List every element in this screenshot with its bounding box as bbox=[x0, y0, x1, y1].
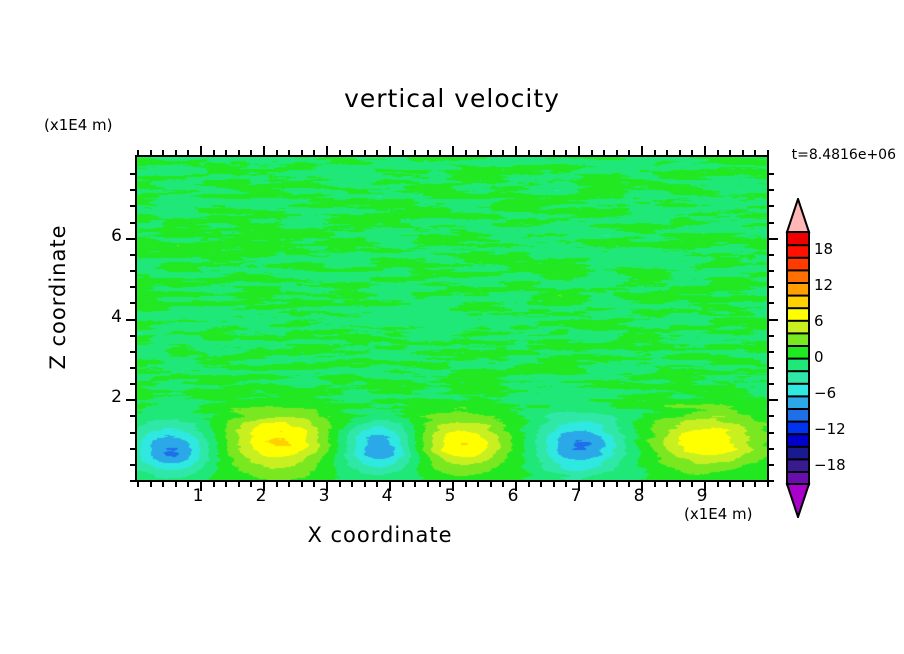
colorbar-tick-label: −6 bbox=[814, 384, 836, 402]
x-tick-label: 9 bbox=[682, 486, 722, 506]
axis-tick bbox=[288, 482, 290, 487]
axis-tick bbox=[654, 150, 656, 155]
axis-tick bbox=[754, 482, 756, 487]
axis-tick bbox=[130, 286, 135, 288]
axis-tick bbox=[769, 432, 774, 434]
axis-tick bbox=[767, 482, 769, 487]
axis-tick bbox=[364, 150, 366, 155]
axis-tick bbox=[769, 302, 774, 304]
colorbar-labels: 181260−6−12−18 bbox=[812, 198, 872, 518]
axis-tick bbox=[729, 150, 731, 155]
axis-tick bbox=[130, 464, 135, 466]
axis-tick bbox=[130, 367, 135, 369]
y-tick-label: 6 bbox=[82, 226, 122, 246]
axis-tick bbox=[130, 335, 135, 337]
axis-tick bbox=[666, 482, 668, 487]
time-annotation: t=8.4816e+06 bbox=[792, 147, 896, 163]
y-tick-label: 4 bbox=[82, 307, 122, 327]
axis-tick bbox=[225, 482, 227, 487]
axis-tick bbox=[130, 222, 135, 224]
axis-tick bbox=[200, 146, 202, 155]
figure-canvas: vertical velocity (x1E4 m) t=8.4816e+06 … bbox=[0, 0, 904, 654]
axis-tick bbox=[130, 205, 135, 207]
axis-tick bbox=[769, 399, 778, 401]
x-tick-label: 3 bbox=[304, 486, 344, 506]
axis-tick bbox=[364, 482, 366, 487]
axis-tick bbox=[616, 150, 618, 155]
axis-tick bbox=[742, 150, 744, 155]
plot-title-text: vertical velocity bbox=[344, 84, 560, 113]
x-tick-label: 6 bbox=[493, 486, 533, 506]
axis-tick bbox=[130, 270, 135, 272]
axis-tick bbox=[603, 482, 605, 487]
axis-tick bbox=[126, 238, 135, 240]
axis-tick bbox=[130, 351, 135, 353]
axis-tick bbox=[402, 150, 404, 155]
axis-tick bbox=[150, 482, 152, 487]
axis-tick bbox=[704, 146, 706, 155]
colorbar-tick-label: 0 bbox=[814, 348, 824, 366]
axis-tick bbox=[427, 150, 429, 155]
axis-tick bbox=[565, 150, 567, 155]
axis-tick bbox=[351, 482, 353, 487]
axis-tick bbox=[126, 319, 135, 321]
axis-tick bbox=[213, 150, 215, 155]
axis-tick bbox=[769, 464, 774, 466]
axis-tick bbox=[769, 270, 774, 272]
contour-plot-area bbox=[135, 155, 769, 482]
axis-tick bbox=[175, 482, 177, 487]
axis-tick bbox=[729, 482, 731, 487]
axis-tick bbox=[351, 150, 353, 155]
axis-tick bbox=[130, 383, 135, 385]
x-tick-label: 1 bbox=[178, 486, 218, 506]
axis-tick bbox=[276, 150, 278, 155]
axis-tick bbox=[250, 150, 252, 155]
axis-tick bbox=[769, 205, 774, 207]
axis-tick bbox=[465, 150, 467, 155]
axis-tick bbox=[427, 482, 429, 487]
axis-tick bbox=[414, 482, 416, 487]
axis-tick bbox=[603, 150, 605, 155]
axis-tick bbox=[301, 482, 303, 487]
axis-tick bbox=[130, 480, 135, 482]
axis-tick bbox=[130, 432, 135, 434]
x-tick-label: 7 bbox=[556, 486, 596, 506]
axis-tick bbox=[591, 150, 593, 155]
x-tick-label: 5 bbox=[430, 486, 470, 506]
axis-tick bbox=[717, 150, 719, 155]
axis-tick bbox=[767, 150, 769, 155]
axis-tick bbox=[130, 415, 135, 417]
axis-tick bbox=[502, 150, 504, 155]
axis-tick bbox=[389, 146, 391, 155]
axis-tick bbox=[769, 189, 774, 191]
axis-tick bbox=[238, 150, 240, 155]
axis-tick bbox=[679, 482, 681, 487]
axis-tick bbox=[769, 448, 774, 450]
axis-tick bbox=[162, 482, 164, 487]
y-tick-label: 2 bbox=[82, 387, 122, 407]
axis-tick bbox=[769, 351, 774, 353]
axis-tick bbox=[225, 150, 227, 155]
axis-tick bbox=[339, 150, 341, 155]
axis-tick bbox=[769, 238, 778, 240]
axis-tick bbox=[326, 146, 328, 155]
axis-tick bbox=[130, 302, 135, 304]
axis-tick bbox=[452, 146, 454, 155]
y-axis-unit-label: (x1E4 m) bbox=[44, 116, 113, 134]
axis-tick bbox=[616, 482, 618, 487]
axis-tick bbox=[553, 150, 555, 155]
axis-tick bbox=[439, 150, 441, 155]
colorbar bbox=[785, 198, 811, 518]
axis-tick bbox=[301, 150, 303, 155]
page-title: vertical velocity bbox=[0, 84, 904, 113]
axis-tick bbox=[540, 482, 542, 487]
axis-tick bbox=[130, 254, 135, 256]
axis-tick bbox=[130, 173, 135, 175]
axis-tick bbox=[376, 150, 378, 155]
axis-tick bbox=[187, 150, 189, 155]
axis-tick bbox=[490, 482, 492, 487]
x-axis-title: X coordinate bbox=[0, 523, 760, 547]
axis-tick bbox=[126, 399, 135, 401]
x-tick-label: 8 bbox=[619, 486, 659, 506]
vertical-velocity-field bbox=[137, 157, 767, 480]
colorbar-tick-label: −18 bbox=[814, 456, 846, 474]
colorbar-swatches bbox=[785, 198, 811, 518]
axis-tick bbox=[666, 150, 668, 155]
axis-tick bbox=[679, 150, 681, 155]
axis-tick bbox=[754, 150, 756, 155]
axis-tick bbox=[515, 146, 517, 155]
axis-tick bbox=[313, 150, 315, 155]
axis-tick bbox=[578, 146, 580, 155]
axis-tick bbox=[162, 150, 164, 155]
axis-tick bbox=[414, 150, 416, 155]
axis-tick bbox=[553, 482, 555, 487]
axis-tick bbox=[641, 146, 643, 155]
axis-tick bbox=[130, 448, 135, 450]
axis-tick bbox=[769, 173, 774, 175]
axis-tick bbox=[238, 482, 240, 487]
x-axis-unit-label: (x1E4 m) bbox=[684, 505, 753, 523]
axis-tick bbox=[288, 150, 290, 155]
axis-tick bbox=[769, 254, 774, 256]
axis-tick bbox=[769, 383, 774, 385]
axis-tick bbox=[628, 150, 630, 155]
axis-tick bbox=[137, 150, 139, 155]
axis-tick bbox=[769, 415, 774, 417]
axis-tick bbox=[477, 482, 479, 487]
axis-tick bbox=[769, 222, 774, 224]
axis-tick bbox=[528, 150, 530, 155]
colorbar-tick-label: 12 bbox=[814, 276, 833, 294]
axis-tick bbox=[137, 482, 139, 487]
y-axis-title: Z coordinate bbox=[46, 197, 70, 397]
axis-tick bbox=[691, 150, 693, 155]
axis-tick bbox=[263, 146, 265, 155]
axis-tick bbox=[175, 150, 177, 155]
x-tick-label: 4 bbox=[367, 486, 407, 506]
axis-tick bbox=[769, 367, 774, 369]
axis-tick bbox=[769, 335, 774, 337]
axis-tick bbox=[540, 150, 542, 155]
axis-tick bbox=[490, 150, 492, 155]
colorbar-tick-label: 6 bbox=[814, 312, 824, 330]
axis-tick bbox=[477, 150, 479, 155]
colorbar-tick-label: 18 bbox=[814, 240, 833, 258]
axis-tick bbox=[769, 319, 778, 321]
axis-tick bbox=[769, 480, 774, 482]
colorbar-tick-label: −12 bbox=[814, 420, 846, 438]
axis-tick bbox=[769, 286, 774, 288]
axis-tick bbox=[150, 150, 152, 155]
axis-tick bbox=[742, 482, 744, 487]
x-tick-label: 2 bbox=[241, 486, 281, 506]
axis-tick bbox=[130, 189, 135, 191]
